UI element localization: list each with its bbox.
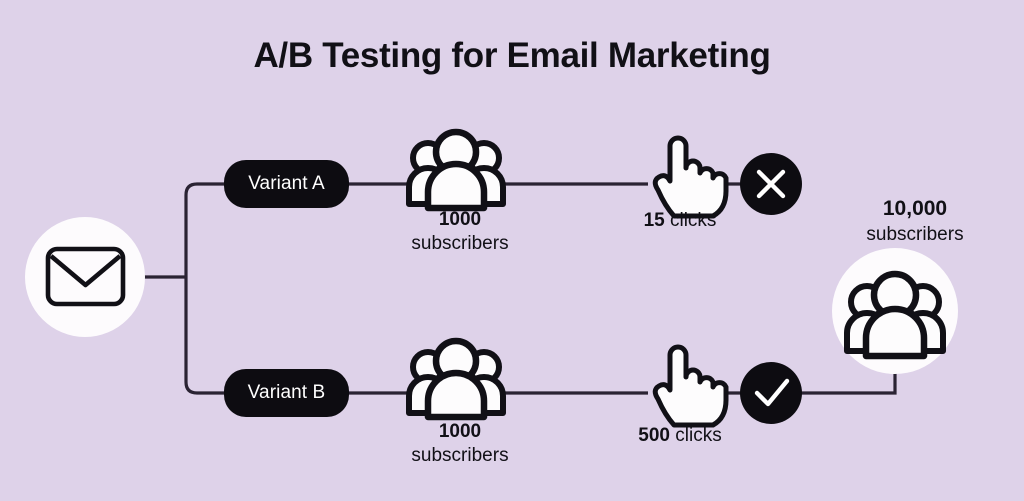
variant-a-clicks-unit: clicks: [670, 210, 716, 231]
people-group-icon: [409, 341, 503, 417]
people-group-icon: [409, 132, 503, 208]
variant-a-clicks-count: 15: [644, 210, 665, 231]
variant-a-audience-unit: subscribers: [411, 233, 508, 254]
outcome-unit: subscribers: [866, 224, 963, 245]
variant-b-node[interactable]: Variant B: [224, 369, 349, 417]
x-mark-circle-icon: [740, 153, 802, 215]
outcome-caption: 10,000 subscribers: [820, 196, 1010, 247]
people-group-icon: [847, 274, 943, 356]
variant-b-clicks-caption: 500 clicks: [590, 424, 770, 448]
variant-a-label: Variant A: [248, 173, 325, 195]
variant-a-audience-caption: 1000 subscribers: [375, 208, 545, 257]
source-circle-backdrop: [25, 217, 145, 337]
variant-b-audience-unit: subscribers: [411, 445, 508, 466]
check-mark-circle-icon: [740, 362, 802, 424]
variant-a-audience-count: 1000: [439, 209, 481, 230]
variant-b-audience-count: 1000: [439, 421, 481, 442]
variant-b-audience-caption: 1000 subscribers: [375, 420, 545, 469]
pointing-hand-cursor-icon: [655, 347, 726, 425]
variant-a-clicks-caption: 15 clicks: [590, 209, 770, 233]
outcome-count: 10,000: [883, 197, 947, 220]
variant-b-label: Variant B: [248, 382, 326, 404]
variant-b-clicks-unit: clicks: [675, 425, 721, 446]
pointing-hand-cursor-icon: [655, 138, 726, 216]
variant-b-clicks-count: 500: [638, 425, 670, 446]
infographic-canvas: A/B Testing for Email Marketing: [0, 0, 1024, 501]
variant-a-node[interactable]: Variant A: [224, 160, 349, 208]
